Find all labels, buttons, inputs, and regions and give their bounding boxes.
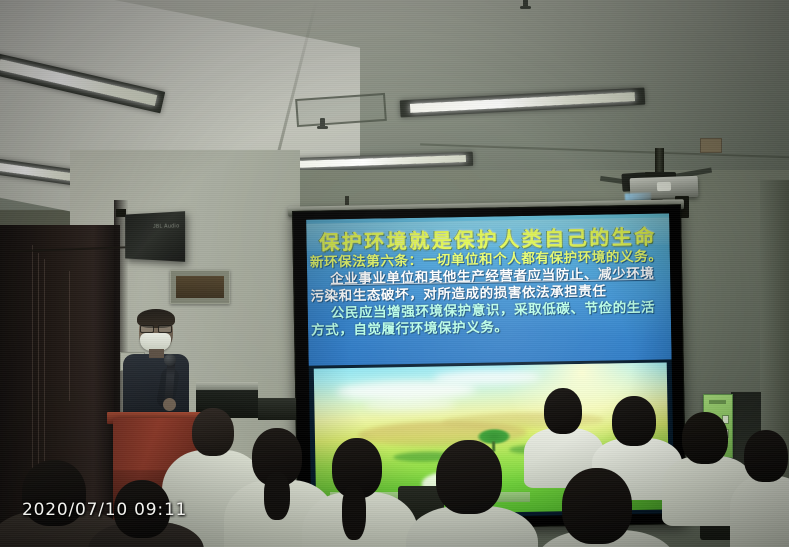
sprinkler-head: [320, 118, 325, 129]
audience-head: [612, 396, 656, 446]
speaker-brand-label: JBL Audio: [153, 223, 180, 230]
glasses-icon: [140, 325, 172, 331]
audience-member: [736, 430, 789, 540]
sprinkler-head: [523, 0, 528, 9]
audience-member: [316, 438, 402, 547]
photograph-scene: JBL Audio 保护环境就是保护人类自己的生命: [0, 0, 789, 547]
audience-head: [682, 412, 728, 464]
audience-member: [418, 440, 522, 547]
microphone-head: [164, 354, 176, 366]
photo-timestamp: 2020/07/10 09:11: [22, 500, 187, 520]
cloud-shape: [434, 370, 540, 385]
cloud-shape: [364, 398, 456, 411]
audience-member: [546, 468, 656, 547]
ceiling-junction-box: [700, 138, 722, 153]
plaque-inner-panel: [176, 276, 224, 298]
audience-head: [744, 430, 788, 482]
panel-groove: [69, 271, 70, 401]
fluorescent-tube: [410, 92, 636, 112]
ponytail: [264, 472, 290, 520]
wall-speaker: JBL Audio: [125, 211, 185, 262]
ceiling-seam-secondary: [420, 143, 789, 158]
fluorescent-tube: [295, 155, 465, 168]
audience-member: [530, 388, 596, 478]
ceiling-panel-frame: [295, 93, 387, 127]
slide-text-section: 保护环境就是保护人类自己的生命 新环保法第六条：一切单位和个人都有保护环境的义务…: [306, 213, 671, 365]
ponytail: [342, 484, 366, 540]
audience-head: [436, 440, 502, 514]
presenter-hand: [163, 398, 176, 411]
audience-shoulders: [730, 476, 789, 547]
audience-head: [192, 408, 234, 456]
audience-head: [544, 388, 582, 434]
projector-lens: [657, 182, 671, 191]
audience-head: [562, 468, 632, 544]
screen-hook: [345, 196, 349, 205]
slide-body-text: 新环保法第六条：一切单位和个人都有保护环境的义务。 企业事业单位和其他生产经营者…: [308, 248, 670, 339]
wall-plaque: [170, 270, 230, 304]
panel-slot: [709, 400, 726, 404]
equipment-rack: [258, 398, 296, 420]
presenter-neck: [149, 349, 164, 358]
ceiling-light-fixture: [400, 88, 646, 118]
